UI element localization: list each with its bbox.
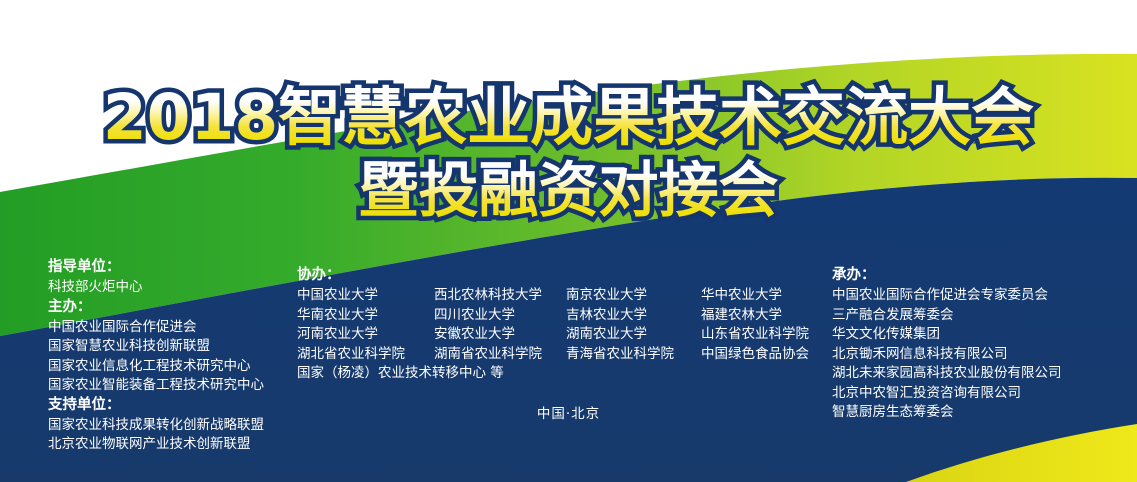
undertaker-item: 三产融合发展筹委会 — [832, 306, 1062, 326]
guidance-unit-item: 科技部火炬中心 — [48, 278, 264, 298]
co-organizer-row: 华南农业大学 四川农业大学 吉林农业大学 福建农林大学 — [297, 306, 836, 326]
co-organizer-item: 湖南省农业科学院 — [434, 345, 566, 365]
host-item: 国家农业智能装备工程技术研究中心 — [48, 376, 264, 396]
undertaker-item: 湖北未来家园高科技农业股份有限公司 — [832, 364, 1062, 384]
guidance-unit-heading: 指导单位： — [48, 258, 264, 277]
co-organizer-item: 西北农林科技大学 — [434, 286, 566, 306]
organizers-left-column: 指导单位： 科技部火炬中心 主办： 中国农业国际合作促进会 国家智慧农业科技创新… — [48, 258, 264, 455]
co-organizers-column: 协办： 中国农业大学 西北农林科技大学 南京农业大学 华中农业大学 华南农业大学… — [297, 266, 836, 384]
co-organizer-item: 吉林农业大学 — [566, 306, 701, 326]
co-organizer-item: 山东省农业科学院 — [701, 325, 836, 345]
undertaker-item: 中国农业国际合作促进会专家委员会 — [832, 286, 1062, 306]
undertakers-column: 承办： 中国农业国际合作促进会专家委员会 三产融合发展筹委会 华文文化传媒集团 … — [832, 266, 1062, 423]
co-organizer-item: 四川农业大学 — [434, 306, 566, 326]
undertaker-heading: 承办： — [832, 266, 1062, 285]
support-unit-item: 北京农业物联网产业技术创新联盟 — [48, 435, 264, 455]
conference-banner: 2018智慧农业成果技术交流大会 2018智慧农业成果技术交流大会 暨投融资对接… — [0, 0, 1137, 482]
co-organizer-last-line: 国家（杨凌）农业技术转移中心 等 — [297, 364, 836, 384]
undertaker-item: 北京锄禾网信息科技有限公司 — [832, 345, 1062, 365]
host-item: 中国农业国际合作促进会 — [48, 318, 264, 338]
co-organizer-item: 湖南农业大学 — [566, 325, 701, 345]
co-organizer-item: 中国绿色食品协会 — [701, 345, 836, 365]
co-organizer-item: 中国农业大学 — [297, 286, 434, 306]
co-organizer-row: 中国农业大学 西北农林科技大学 南京农业大学 华中农业大学 — [297, 286, 836, 306]
co-organizer-item: 河南农业大学 — [297, 325, 434, 345]
co-organizer-item: 福建农林大学 — [701, 306, 836, 326]
undertaker-item: 华文文化传媒集团 — [832, 325, 1062, 345]
venue-label: 中国·北京 — [0, 402, 1137, 422]
co-organizer-item: 湖北省农业科学院 — [297, 345, 434, 365]
host-heading: 主办： — [48, 298, 264, 317]
co-organizer-item: 华中农业大学 — [701, 286, 836, 306]
host-item: 国家智慧农业科技创新联盟 — [48, 337, 264, 357]
co-organizer-item: 青海省农业科学院 — [566, 345, 701, 365]
co-organizer-item: 安徽农业大学 — [434, 325, 566, 345]
co-organizer-row: 湖北省农业科学院 湖南省农业科学院 青海省农业科学院 中国绿色食品协会 — [297, 345, 836, 365]
host-item: 国家农业信息化工程技术研究中心 — [48, 357, 264, 377]
undertaker-item: 北京中农智汇投资咨询有限公司 — [832, 384, 1062, 404]
co-organizer-row: 河南农业大学 安徽农业大学 湖南农业大学 山东省农业科学院 — [297, 325, 836, 345]
co-organizer-heading: 协办： — [297, 266, 836, 285]
co-organizer-item: 南京农业大学 — [566, 286, 701, 306]
co-organizer-item: 华南农业大学 — [297, 306, 434, 326]
